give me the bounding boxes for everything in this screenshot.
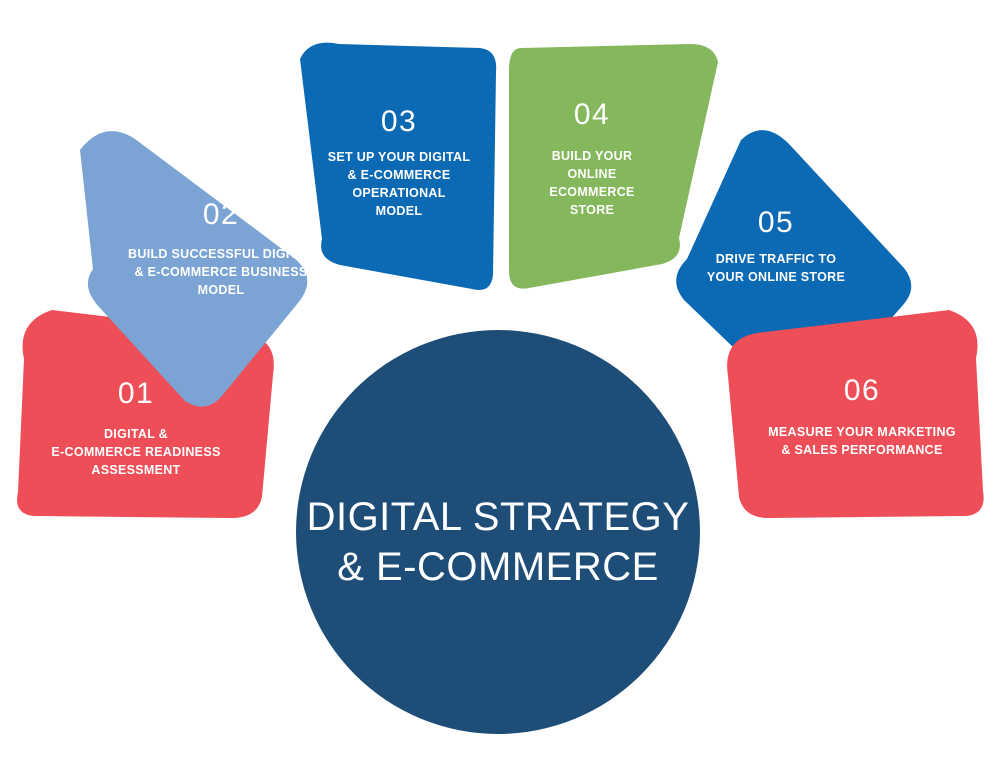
- segment-04-line-1: BUILD YOUR: [552, 149, 633, 163]
- segment-03-line-3: OPERATIONAL: [352, 186, 445, 200]
- segment-06[interactable]: 06 MEASURE YOUR MARKETING & SALES PERFOR…: [727, 310, 984, 518]
- segment-03-shape[interactable]: [300, 43, 496, 290]
- segment-04-line-4: STORE: [570, 203, 614, 217]
- segment-05-number: 05: [758, 206, 794, 239]
- segment-04-number: 04: [574, 98, 610, 131]
- segment-06-line-2: & SALES PERFORMANCE: [781, 443, 942, 457]
- segment-06-line-1: MEASURE YOUR MARKETING: [768, 425, 956, 439]
- segment-03-number: 03: [381, 105, 417, 138]
- center-hub-line-1: DIGITAL STRATEGY: [307, 495, 690, 539]
- segment-06-number: 06: [844, 374, 880, 407]
- segment-01-line-2: E-COMMERCE READINESS: [51, 445, 220, 459]
- segment-03[interactable]: 03 SET UP YOUR DIGITAL & E-COMMERCE OPER…: [300, 43, 496, 290]
- segment-04[interactable]: 04 BUILD YOUR ONLINE ECOMMERCE STORE: [509, 44, 718, 289]
- segment-02-line-3: MODEL: [198, 283, 245, 297]
- segment-05-line-2: YOUR ONLINE STORE: [707, 270, 845, 284]
- segment-02-line-1: BUILD SUCCESSFUL DIGITAL: [128, 247, 314, 261]
- segment-01-number: 01: [118, 377, 154, 410]
- segment-01-line-3: ASSESSMENT: [91, 463, 180, 477]
- segment-01-line-1: DIGITAL &: [104, 427, 168, 441]
- segment-02-number: 02: [203, 198, 239, 231]
- diagram-root: 01 DIGITAL & E-COMMERCE READINESS ASSESS…: [0, 0, 1000, 766]
- segment-05-line-1: DRIVE TRAFFIC TO: [716, 252, 837, 266]
- segment-04-line-3: ECOMMERCE: [549, 185, 634, 199]
- segment-03-line-1: SET UP YOUR DIGITAL: [328, 150, 471, 164]
- process-wheel: 01 DIGITAL & E-COMMERCE READINESS ASSESS…: [0, 0, 1000, 766]
- segment-02-line-2: & E-COMMERCE BUSINESS: [135, 265, 308, 279]
- segment-04-line-2: ONLINE: [567, 167, 616, 181]
- segment-03-line-2: & E-COMMERCE: [348, 168, 451, 182]
- center-hub[interactable]: DIGITAL STRATEGY & E-COMMERCE: [296, 330, 700, 734]
- center-hub-line-2: & E-COMMERCE: [337, 545, 659, 589]
- segment-06-shape[interactable]: [727, 310, 984, 518]
- segment-03-line-4: MODEL: [376, 204, 423, 218]
